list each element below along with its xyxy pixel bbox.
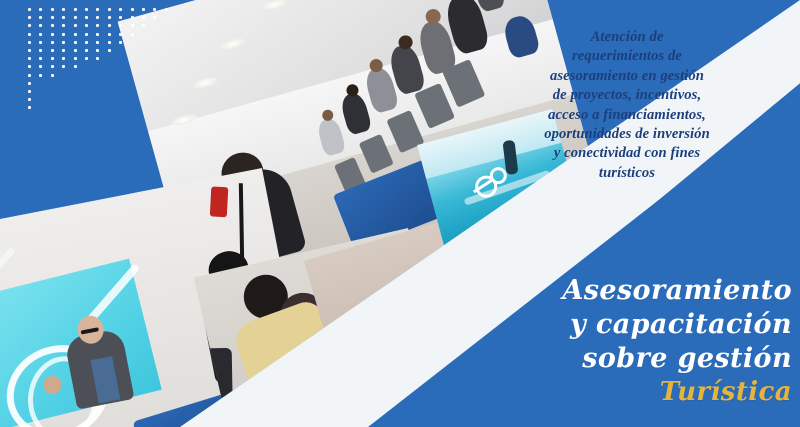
title-block: Asesoramientoy capacitaciónsobre gestión… (462, 274, 792, 409)
promotional-poster: Atención derequerimientos deasesoramient… (0, 0, 800, 427)
decorative-dot (108, 24, 111, 27)
decorative-dot (62, 24, 65, 27)
decorative-dot (131, 33, 134, 36)
headline-line-3: asesoramiento en gestión (492, 67, 762, 86)
decorative-dot (28, 33, 31, 36)
decorative-dot (62, 49, 65, 52)
decorative-dot (74, 49, 77, 52)
decorative-dot (96, 49, 99, 52)
decorative-dot (28, 24, 31, 27)
decorative-dot (51, 16, 54, 19)
decorative-dot (96, 33, 99, 36)
decorative-dot (39, 41, 42, 44)
decorative-dot (62, 65, 65, 68)
decorative-dot (62, 33, 65, 36)
title-line-1: Asesoramiento (462, 274, 792, 308)
decorative-dot (28, 16, 31, 19)
decorative-dot (142, 24, 145, 27)
decorative-dot (28, 90, 31, 93)
decorative-dot (28, 41, 31, 44)
decorative-dot (131, 16, 134, 19)
triangular-dot-grid-icon (28, 8, 178, 116)
decorative-dot (119, 41, 122, 44)
headline-line-2: requerimientos de (492, 47, 762, 66)
headline-line-6: oportunidades de inversión (492, 125, 762, 144)
headline-line-5: acceso a financiamientos, (492, 106, 762, 125)
decorative-dot (96, 57, 99, 60)
decorative-dot (119, 24, 122, 27)
decorative-dot (119, 16, 122, 19)
decorative-dot (28, 98, 31, 101)
decorative-dot (51, 24, 54, 27)
decorative-dot (131, 24, 134, 27)
title-line-3: sobre gestión (462, 342, 792, 376)
decorative-dot (74, 65, 77, 68)
decorative-dot (28, 49, 31, 52)
decorative-dot (85, 57, 88, 60)
decorative-dot (153, 8, 156, 11)
decorative-dot (51, 49, 54, 52)
decorative-dot (51, 41, 54, 44)
decorative-dot (74, 33, 77, 36)
decorative-dot (119, 33, 122, 36)
decorative-dot (108, 16, 111, 19)
decorative-dot (39, 65, 42, 68)
decorative-dot (85, 33, 88, 36)
decorative-dot (74, 16, 77, 19)
fire-extinguisher (210, 187, 229, 218)
headline-line-8: turísticos (492, 164, 762, 183)
title-line-4: Turística (462, 376, 792, 409)
decorative-dot (62, 57, 65, 60)
decorative-dot (165, 8, 168, 11)
decorative-dot (28, 74, 31, 77)
decorative-dot (62, 16, 65, 19)
decorative-dot (96, 8, 99, 11)
decorative-dot (39, 49, 42, 52)
decorative-dot (85, 49, 88, 52)
decorative-dot (51, 8, 54, 11)
decorative-dot (28, 65, 31, 68)
decorative-dot (85, 41, 88, 44)
decorative-dot (74, 24, 77, 27)
decorative-dot (74, 41, 77, 44)
headline-line-4: de proyectos, incentivos, (492, 86, 762, 105)
decorative-dot (28, 106, 31, 109)
decorative-dot (28, 8, 31, 11)
title-line-2: y capacitación (462, 308, 792, 342)
decorative-dot (62, 8, 65, 11)
decorative-dot (142, 8, 145, 11)
decorative-dot (39, 16, 42, 19)
decorative-dot (96, 16, 99, 19)
decorative-dot (51, 74, 54, 77)
decorative-dot (85, 8, 88, 11)
decorative-dot (51, 33, 54, 36)
decorative-dot (39, 74, 42, 77)
decorative-dot (119, 8, 122, 11)
ceiling-tube-light (0, 246, 16, 284)
decorative-dot (62, 41, 65, 44)
decorative-dot (153, 16, 156, 19)
headline-line-7: y conectividad con fines (492, 144, 762, 163)
decorative-dot (96, 41, 99, 44)
decorative-dot (108, 8, 111, 11)
decorative-dot (51, 65, 54, 68)
decorative-dot (28, 82, 31, 85)
decorative-dot (131, 8, 134, 11)
decorative-dot (96, 24, 99, 27)
decorative-dot (28, 57, 31, 60)
decorative-dot (85, 24, 88, 27)
decorative-dot (74, 57, 77, 60)
headline-line-1: Atención de (492, 28, 762, 47)
decorative-dot (39, 33, 42, 36)
decorative-dot (39, 8, 42, 11)
headline-paragraph: Atención derequerimientos deasesoramient… (492, 28, 762, 183)
decorative-dot (108, 49, 111, 52)
decorative-dot (74, 8, 77, 11)
decorative-dot (108, 33, 111, 36)
decorative-dot (39, 57, 42, 60)
decorative-dot (142, 16, 145, 19)
decorative-dot (51, 57, 54, 60)
decorative-dot (85, 16, 88, 19)
decorative-dot (39, 24, 42, 27)
decorative-dot (108, 41, 111, 44)
